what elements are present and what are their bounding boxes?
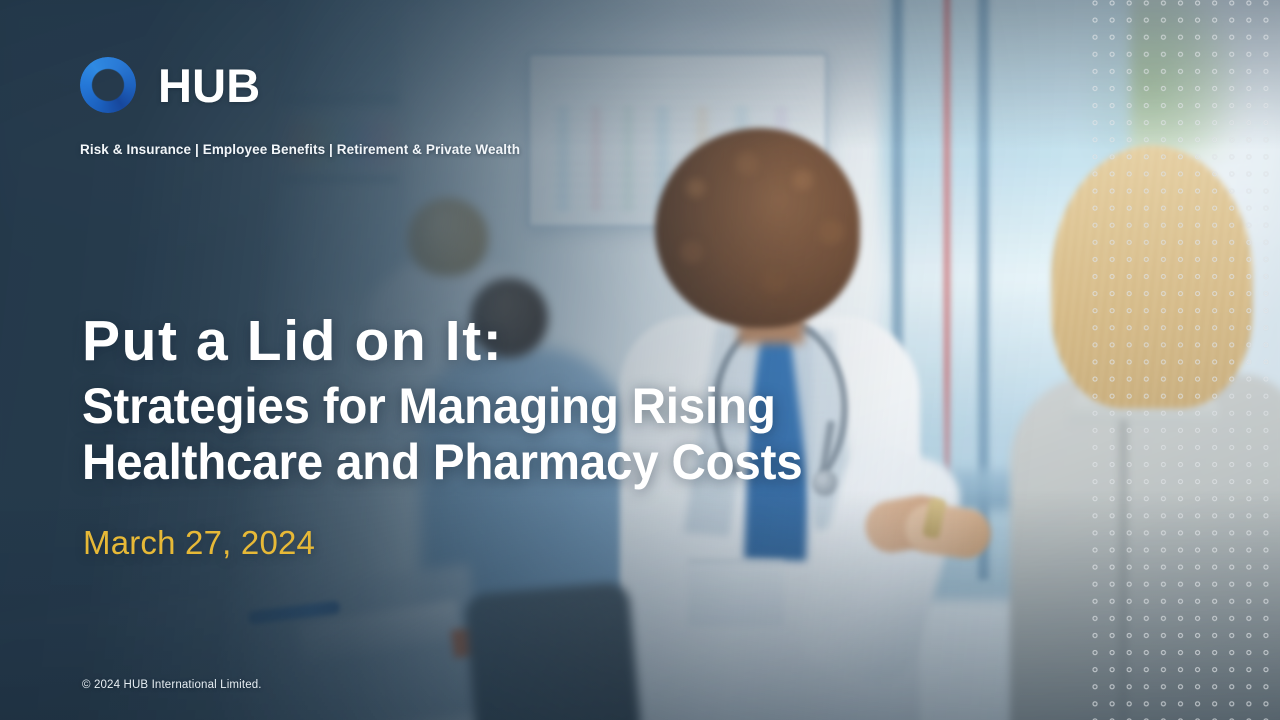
presentation-date: March 27, 2024: [83, 524, 315, 562]
title-block: Put a Lid on It: Strategies for Managing…: [82, 312, 982, 490]
ring-dot-pattern: [1092, 0, 1280, 720]
page-subtitle-line-2: Healthcare and Pharmacy Costs: [82, 434, 937, 490]
page-subtitle-line-1: Strategies for Managing Rising: [82, 378, 937, 434]
hub-ring-logo-icon: [80, 57, 136, 113]
hub-wordmark: HUB: [158, 62, 260, 109]
title-slide: HUB Risk & Insurance | Employee Benefits…: [0, 0, 1280, 720]
hub-logo[interactable]: HUB: [80, 57, 260, 113]
page-title: Put a Lid on It:: [82, 312, 982, 370]
copyright-notice: © 2024 HUB International Limited.: [82, 679, 262, 691]
brand-tagline: Risk & Insurance | Employee Benefits | R…: [80, 142, 520, 157]
